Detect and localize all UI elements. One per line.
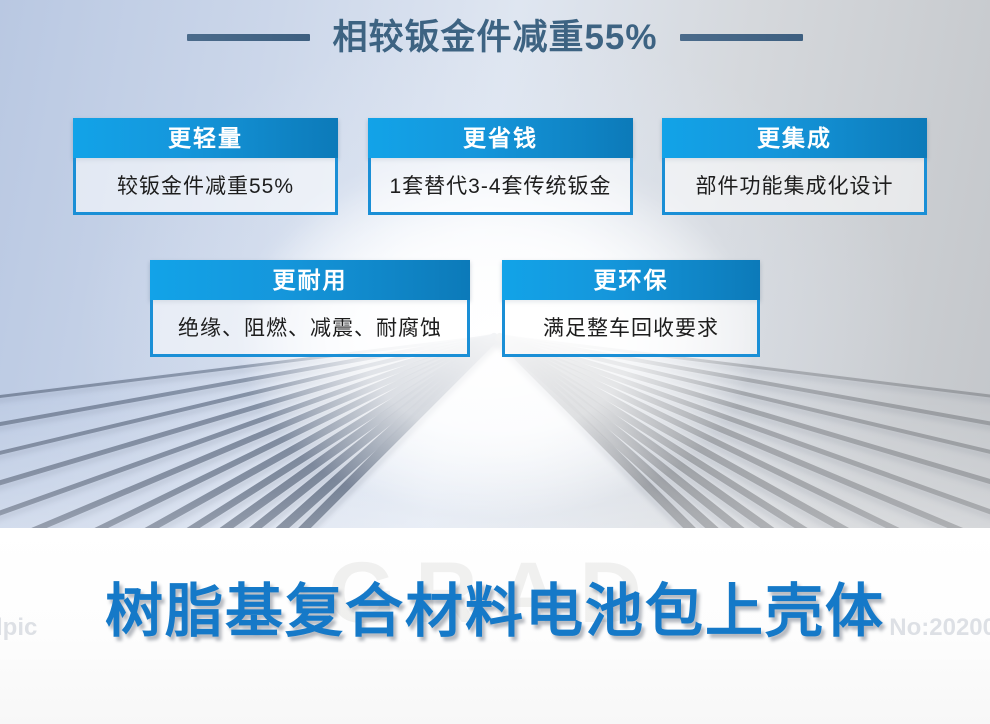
headline-rule-right [680, 34, 803, 41]
photo-bottom-fade [0, 400, 990, 528]
background-photo [0, 0, 990, 528]
feature-card-5[interactable]: 更环保 满足整车回收要求 [502, 260, 760, 357]
feature-card-3[interactable]: 更集成 部件功能集成化设计 [662, 118, 927, 215]
feature-card-1-body: 较钣金件减重55% [73, 158, 338, 215]
feature-card-2-title: 更省钱 [368, 118, 633, 158]
bottom-band: GRAD lpic No:20200 树脂基复合材料电池包上壳体 [0, 528, 990, 724]
feature-card-4-body: 绝缘、阻燃、减震、耐腐蚀 [150, 300, 470, 357]
feature-card-5-title: 更环保 [502, 260, 760, 300]
feature-card-1[interactable]: 更轻量 较钣金件减重55% [73, 118, 338, 215]
feature-card-3-body: 部件功能集成化设计 [662, 158, 927, 215]
feature-card-3-title: 更集成 [662, 118, 927, 158]
feature-card-2[interactable]: 更省钱 1套替代3-4套传统钣金 [368, 118, 633, 215]
product-title: 树脂基复合材料电池包上壳体 [0, 576, 990, 649]
feature-card-4[interactable]: 更耐用 绝缘、阻燃、减震、耐腐蚀 [150, 260, 470, 357]
feature-card-1-title: 更轻量 [73, 118, 338, 158]
feature-card-4-title: 更耐用 [150, 260, 470, 300]
feature-card-2-body: 1套替代3-4套传统钣金 [368, 158, 633, 215]
headline-row: 相较钣金件减重55% [0, 10, 990, 64]
feature-card-5-body: 满足整车回收要求 [502, 300, 760, 357]
headline-rule-left [187, 34, 310, 41]
page-title: 相较钣金件减重55% [332, 20, 657, 55]
poster-canvas: 相较钣金件减重55% 更轻量 较钣金件减重55% 更省钱 1套替代3-4套传统钣… [0, 0, 990, 724]
